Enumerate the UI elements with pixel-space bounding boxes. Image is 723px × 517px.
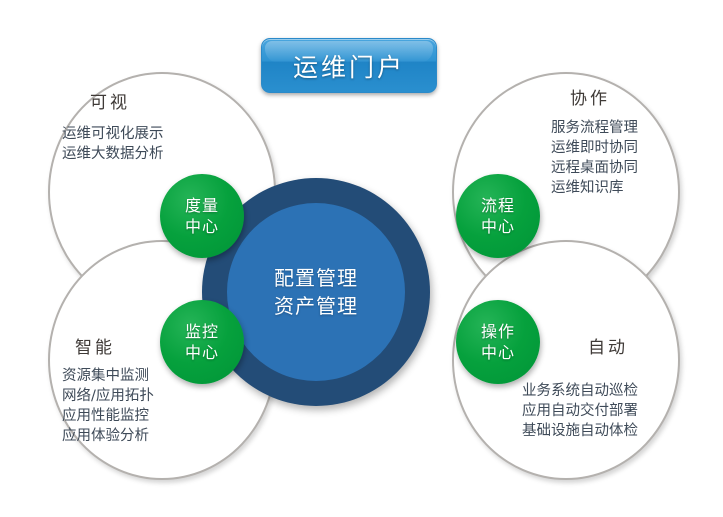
petal-intelligent-item: 资源集中监测 [62,366,154,386]
petal-visual-heading: 可视 [90,88,130,113]
hub-operate-center[interactable]: 操作 中心 [456,300,540,384]
petal-automatic-item: 基础设施自动体检 [522,421,638,441]
petal-intelligent-item: 应用性能监控 [62,406,154,426]
petal-collaborate-item: 运维即时协同 [551,138,638,158]
petal-automatic-item: 业务系统自动巡检 [522,381,638,401]
hub-monitor-line: 中心 [185,342,219,363]
hub-operate-line: 操作 [481,321,515,342]
petal-intelligent-heading: 智能 [75,333,115,358]
hub-flow-line: 中心 [481,216,515,237]
portal-title-label: 运维门户 [293,48,405,84]
core-line: 资产管理 [274,292,358,320]
portal-title-chip[interactable]: 运维门户 [261,38,437,93]
hub-flow-center[interactable]: 流程 中心 [456,174,540,258]
petal-collaborate-item: 服务流程管理 [551,118,638,138]
petal-intelligent-item: 应用体验分析 [62,426,154,446]
petal-automatic-heading: 自动 [588,333,628,358]
core-circle-inner: 配置管理 资产管理 [227,203,405,381]
hub-operate-line: 中心 [481,342,515,363]
petal-visual-items: 运维可视化展示 运维大数据分析 [62,124,164,164]
petal-collaborate-items: 服务流程管理 运维即时协同 远程桌面协同 运维知识库 [551,118,638,198]
petal-automatic-items: 业务系统自动巡检 应用自动交付部署 基础设施自动体检 [522,381,638,441]
hub-metric-line: 度量 [185,195,219,216]
petal-visual-item: 运维可视化展示 [62,124,164,144]
petal-collaborate-heading: 协作 [570,84,610,109]
hub-metric-center[interactable]: 度量 中心 [160,174,244,258]
petal-intelligent-items: 资源集中监测 网络/应用拓扑 应用性能监控 应用体验分析 [62,366,154,446]
core-line: 配置管理 [274,264,358,292]
diagram-canvas: 可视 运维可视化展示 运维大数据分析 协作 服务流程管理 运维即时协同 远程桌面… [0,0,723,517]
petal-collaborate-item: 运维知识库 [551,178,638,198]
petal-collaborate-item: 远程桌面协同 [551,158,638,178]
hub-monitor-line: 监控 [185,321,219,342]
hub-flow-line: 流程 [481,195,515,216]
hub-monitor-center[interactable]: 监控 中心 [160,300,244,384]
petal-automatic-item: 应用自动交付部署 [522,401,638,421]
petal-intelligent-item: 网络/应用拓扑 [62,386,154,406]
petal-visual-item: 运维大数据分析 [62,144,164,164]
hub-metric-line: 中心 [185,216,219,237]
